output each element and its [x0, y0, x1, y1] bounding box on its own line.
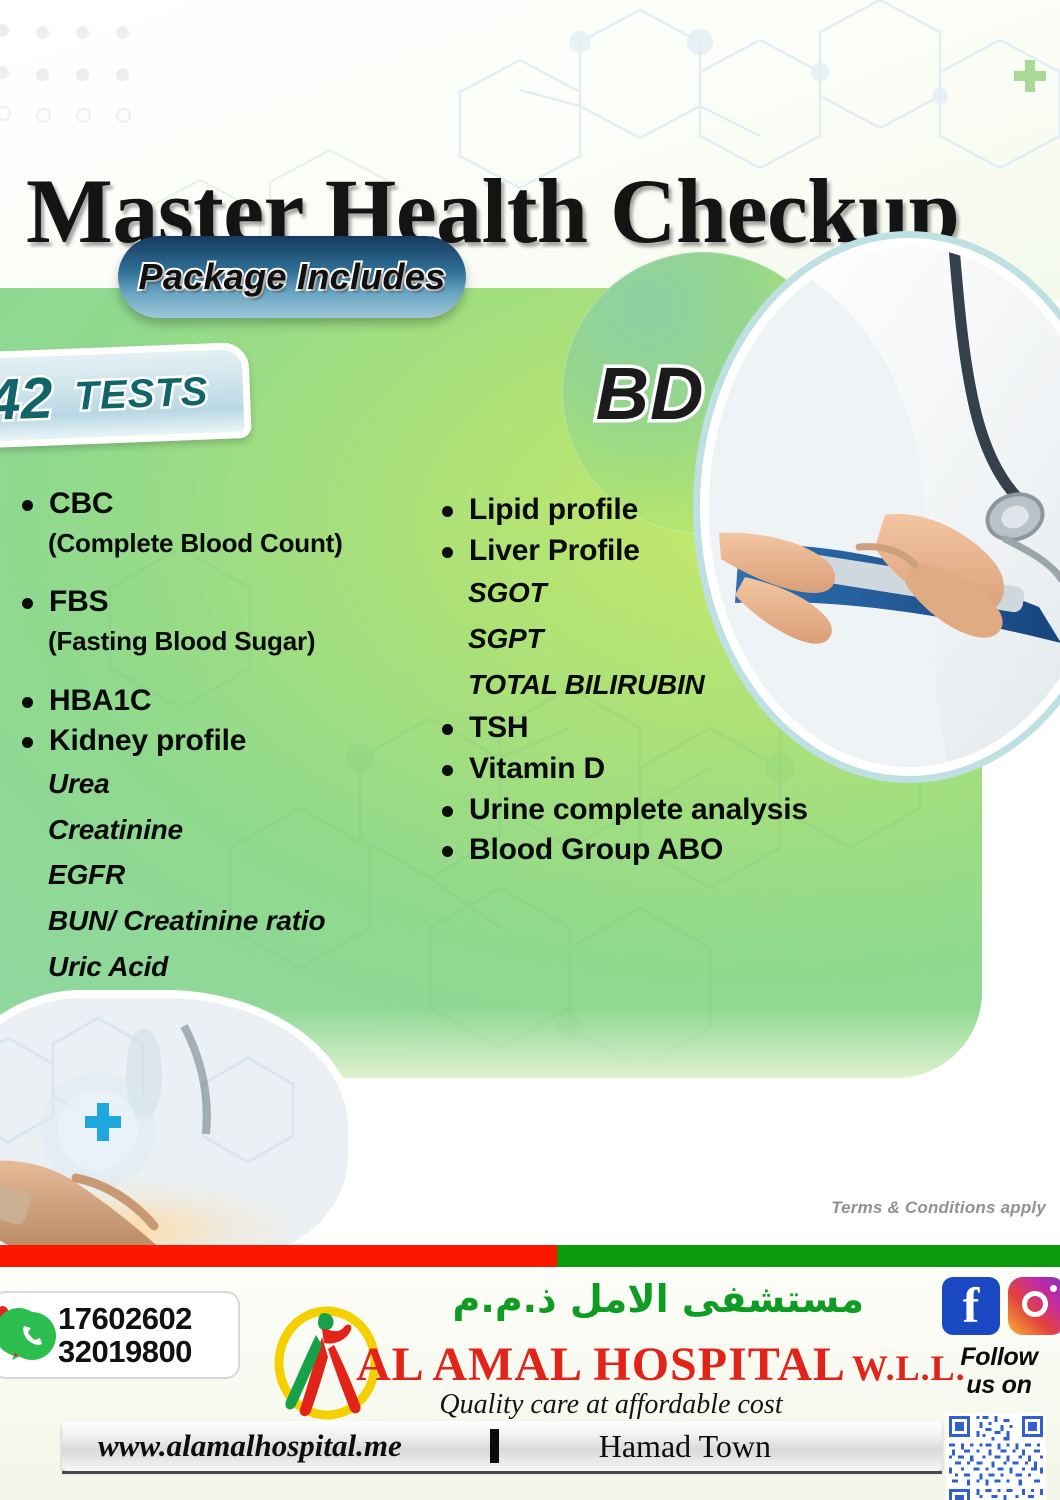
phone-numbers: 17602602 32019800 [58, 1302, 192, 1368]
bullet-icon [442, 506, 453, 517]
instagram-ring [1022, 1291, 1048, 1317]
bullet-icon [22, 500, 33, 511]
bullet-icon [442, 724, 453, 735]
list-item: Vitamin D [428, 751, 898, 788]
test-name: Vitamin D [469, 751, 605, 788]
logo-english-text: AL AMAL HOSPITALW.L.L. [356, 1337, 966, 1392]
test-subitem: Urea [48, 764, 428, 804]
list-item: Kidney profile [8, 723, 428, 760]
terms-and-conditions: Terms & Conditions apply [831, 1198, 1046, 1218]
logo-arabic-text: مستشفى الامل ذ.م.م [424, 1279, 864, 1321]
stripe-green [557, 1245, 1060, 1267]
test-subitem: SGOT [468, 573, 898, 613]
facebook-icon[interactable]: f [942, 1277, 1000, 1335]
bar-divider [490, 1429, 499, 1463]
test-subitem: Uric Acid [48, 947, 428, 987]
hand-hologram-photo [0, 990, 356, 1266]
bullet-icon [442, 806, 453, 817]
list-item: CBC [8, 486, 428, 523]
contact-icons [0, 1304, 58, 1366]
location-label: Hamad Town [599, 1428, 771, 1465]
test-name: TSH [469, 710, 528, 747]
list-item: Liver Profile [428, 533, 898, 570]
test-name: Kidney profile [49, 723, 246, 760]
instagram-icon[interactable] [1008, 1277, 1060, 1335]
test-name: Blood Group ABO [469, 832, 723, 869]
bullet-icon [442, 547, 453, 558]
list-item: HBA1C [8, 683, 428, 720]
bottom-rule [62, 1471, 942, 1474]
bullet-icon [22, 737, 33, 748]
follow-line-2: us on [938, 1371, 1060, 1399]
bullet-icon [442, 846, 453, 857]
phone-number-1: 17602602 [58, 1302, 192, 1335]
list-item: Lipid profile [428, 492, 898, 529]
tests-count-ribbon: 42 TESTS [0, 342, 252, 450]
hospital-logo: مستشفى الامل ذ.م.م AL AMAL HOSPITALW.L.L… [272, 1277, 872, 1427]
test-name: HBA1C [49, 683, 151, 720]
website-url[interactable]: www.alamalhospital.me [98, 1428, 402, 1464]
contact-phone-box[interactable]: 17602602 32019800 [0, 1291, 240, 1379]
color-stripe-divider [0, 1245, 1060, 1267]
test-name: Liver Profile [469, 533, 640, 570]
stripe-red [0, 1245, 557, 1267]
test-subitem: EGFR [48, 855, 428, 895]
test-subitem: SGPT [468, 619, 898, 659]
qr-code[interactable] [946, 1413, 1046, 1500]
test-subtitle: (Complete Blood Count) [48, 527, 428, 561]
test-subitem: TOTAL BILIRUBIN [468, 665, 898, 705]
test-name: CBC [49, 486, 113, 523]
list-item: FBS [8, 584, 428, 621]
test-name: Lipid profile [469, 492, 638, 529]
logo-name: AL AMAL HOSPITAL [356, 1338, 846, 1391]
bullet-icon [442, 765, 453, 776]
list-item: TSH [428, 710, 898, 747]
list-item: Urine complete analysis [428, 792, 898, 829]
test-name: FBS [49, 584, 108, 621]
test-subitem: BUN/ Creatinine ratio [48, 901, 428, 941]
test-list-right: Lipid profile Liver Profile SGOT SGPT TO… [428, 492, 898, 873]
list-item: Blood Group ABO [428, 832, 898, 869]
poster-root: Master Health Checkup Package Include [0, 0, 1060, 1500]
phone-whatsapp-icons [0, 1304, 58, 1366]
dot-grid-decoration [0, 16, 146, 116]
social-section: f Follow us on [938, 1273, 1060, 1498]
tests-count-value: 42 [0, 364, 54, 433]
logo-tagline: Quality care at affordable cost [396, 1389, 826, 1421]
medical-cross-icon [1012, 58, 1048, 94]
follow-line-1: Follow [938, 1343, 1060, 1371]
bullet-icon [22, 697, 33, 708]
package-includes-badge: Package Includes [118, 236, 466, 318]
hand-illustration [0, 998, 348, 1258]
instagram-dot [1050, 1285, 1057, 1292]
test-subtitle: (Fasting Blood Sugar) [48, 625, 428, 659]
test-subitem: Creatinine [48, 810, 428, 850]
phone-number-2: 32019800 [58, 1335, 192, 1368]
bullet-icon [22, 598, 33, 609]
tests-count-label: TESTS [74, 369, 210, 419]
social-icons: f [938, 1273, 1060, 1337]
test-name: Urine complete analysis [469, 792, 808, 829]
follow-us-label: Follow us on [938, 1343, 1060, 1399]
package-includes-label: Package Includes [139, 256, 446, 298]
test-list-left: CBC (Complete Blood Count) FBS (Fasting … [8, 486, 428, 993]
bottom-info-bar: www.alamalhospital.me Hamad Town [62, 1421, 942, 1471]
